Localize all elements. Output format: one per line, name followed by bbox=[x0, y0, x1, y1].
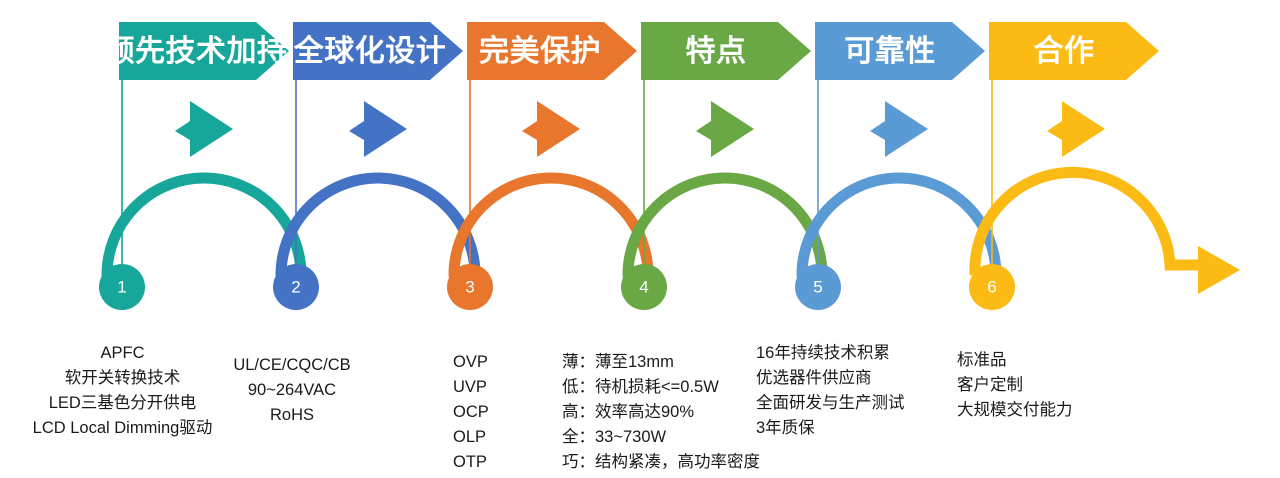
banner-step-3[interactable]: 完美保护 bbox=[467, 22, 637, 80]
arrow-head-1 bbox=[175, 101, 233, 157]
circle-number-1: 1 bbox=[117, 277, 126, 296]
banner-label-2: 全球化设计 bbox=[293, 34, 447, 68]
circle-number-5: 5 bbox=[813, 277, 822, 296]
arc-path-6 bbox=[975, 172, 1201, 275]
description-step-3: OVP UVP OCP OLP OTP bbox=[453, 350, 553, 475]
infographic-canvas: 领先技术加持 全球化设计 完美保护 特点 可靠性 合作 bbox=[0, 0, 1280, 478]
circle-number-4: 4 bbox=[639, 277, 648, 296]
arc-step-3 bbox=[454, 101, 648, 275]
description-line: 全面研发与生产测试 bbox=[756, 391, 956, 416]
description-line: 巧：结构紧凑，高功率密度 bbox=[562, 450, 792, 475]
description-line: UVP bbox=[453, 375, 553, 400]
arrow-head-terminal bbox=[1198, 246, 1240, 294]
description-line: 16年持续技术积累 bbox=[756, 341, 956, 366]
banner-step-1[interactable]: 领先技术加持 bbox=[105, 22, 290, 80]
description-line: OLP bbox=[453, 425, 553, 450]
step-circle-4[interactable]: 4 bbox=[621, 264, 667, 310]
description-line: OVP bbox=[453, 350, 553, 375]
banner-label-5: 可靠性 bbox=[844, 35, 936, 68]
step-circle-5[interactable]: 5 bbox=[795, 264, 841, 310]
arc-step-5 bbox=[802, 101, 996, 275]
banner-step-6[interactable]: 合作 bbox=[989, 22, 1159, 80]
circle-group: 1 2 3 4 5 6 bbox=[99, 264, 1015, 310]
step-circle-3[interactable]: 3 bbox=[447, 264, 493, 310]
banner-label-6: 合作 bbox=[1034, 34, 1095, 68]
description-line: RoHS bbox=[212, 403, 372, 428]
arc-path-2 bbox=[281, 178, 475, 275]
description-line: LCD Local Dimming驱动 bbox=[0, 416, 245, 441]
arc-path-4 bbox=[628, 178, 822, 275]
description-line: 3年质保 bbox=[756, 416, 956, 441]
arc-step-2 bbox=[281, 101, 475, 275]
arc-step-4 bbox=[628, 101, 822, 275]
arrow-head-2 bbox=[349, 101, 407, 157]
banner-label-1: 领先技术加持 bbox=[105, 34, 288, 68]
arc-step-1 bbox=[107, 101, 301, 275]
arc-path-1 bbox=[107, 178, 301, 275]
arc-group bbox=[107, 101, 1240, 294]
banner-label-3: 完美保护 bbox=[479, 34, 601, 68]
arrow-head-5 bbox=[870, 101, 928, 157]
circle-number-3: 3 bbox=[465, 277, 474, 296]
step-circle-6[interactable]: 6 bbox=[969, 264, 1015, 310]
description-step-5: 16年持续技术积累 优选器件供应商 全面研发与生产测试 3年质保 bbox=[756, 341, 956, 441]
arrow-head-3 bbox=[522, 101, 580, 157]
description-step-1: APFC 软开关转换技术 LED三基色分开供电 LCD Local Dimmin… bbox=[0, 341, 245, 441]
step-circle-2[interactable]: 2 bbox=[273, 264, 319, 310]
arc-step-6 bbox=[975, 101, 1240, 294]
description-line: OTP bbox=[453, 450, 553, 475]
description-line: 标准品 bbox=[957, 348, 1137, 373]
description-step-2: UL/CE/CQC/CB 90~264VAC RoHS bbox=[212, 353, 372, 428]
description-line: 客户定制 bbox=[957, 373, 1137, 398]
description-line: LED三基色分开供电 bbox=[0, 391, 245, 416]
arrow-head-6 bbox=[1047, 101, 1105, 157]
description-line: 大规模交付能力 bbox=[957, 398, 1137, 423]
banner-step-4[interactable]: 特点 bbox=[641, 22, 811, 80]
banner-label-4: 特点 bbox=[686, 35, 747, 68]
circle-number-2: 2 bbox=[291, 277, 300, 296]
arc-path-5 bbox=[802, 178, 996, 275]
description-step-6: 标准品 客户定制 大规模交付能力 bbox=[957, 348, 1137, 423]
arc-path-3 bbox=[454, 178, 648, 275]
description-line: 软开关转换技术 bbox=[0, 366, 245, 391]
description-line: 优选器件供应商 bbox=[756, 366, 956, 391]
circle-number-6: 6 bbox=[987, 277, 996, 296]
description-line: 90~264VAC bbox=[212, 378, 372, 403]
arrow-head-4 bbox=[696, 101, 754, 157]
description-line: OCP bbox=[453, 400, 553, 425]
description-line: APFC bbox=[0, 341, 245, 366]
banner-step-5[interactable]: 可靠性 bbox=[815, 22, 985, 80]
step-circle-1[interactable]: 1 bbox=[99, 264, 145, 310]
description-line: UL/CE/CQC/CB bbox=[212, 353, 372, 378]
banner-group: 领先技术加持 全球化设计 完美保护 特点 可靠性 合作 bbox=[105, 22, 1160, 80]
banner-step-2[interactable]: 全球化设计 bbox=[293, 22, 463, 80]
